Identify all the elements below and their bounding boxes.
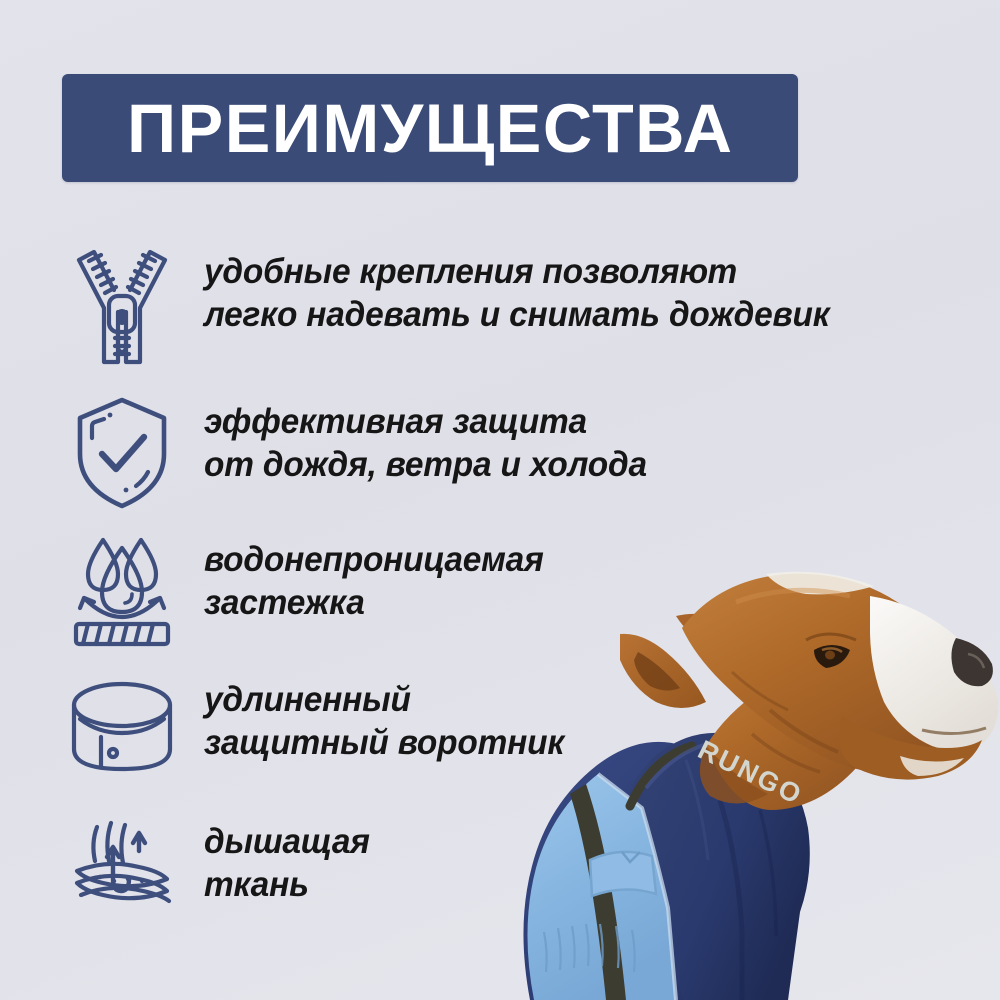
title-banner: ПРЕИМУЩЕСТВА <box>62 74 798 182</box>
waterproof-droplets-icon <box>72 532 172 650</box>
page-title: ПРЕИМУЩЕСТВА <box>127 94 733 163</box>
breathable-fabric-icon <box>72 816 172 926</box>
feature-label: дышащая ткань <box>204 820 370 907</box>
shield-check-icon <box>72 394 172 512</box>
zipper-icon <box>72 238 172 370</box>
collar-ring-icon <box>72 674 172 784</box>
feature-item-protection: эффективная защита от дождя, ветра и хол… <box>0 388 1000 518</box>
feature-item-zipper: удобные крепления позволяют легко надева… <box>0 228 1000 380</box>
promo-page: ПРЕИМУЩЕСТВА <box>0 0 1000 1000</box>
feature-label: эффективная защита от дождя, ветра и хол… <box>204 400 647 487</box>
dog-in-raincoat-photo: RUNGO <box>470 560 1000 1000</box>
feature-label: удобные крепления позволяют легко надева… <box>204 250 829 337</box>
